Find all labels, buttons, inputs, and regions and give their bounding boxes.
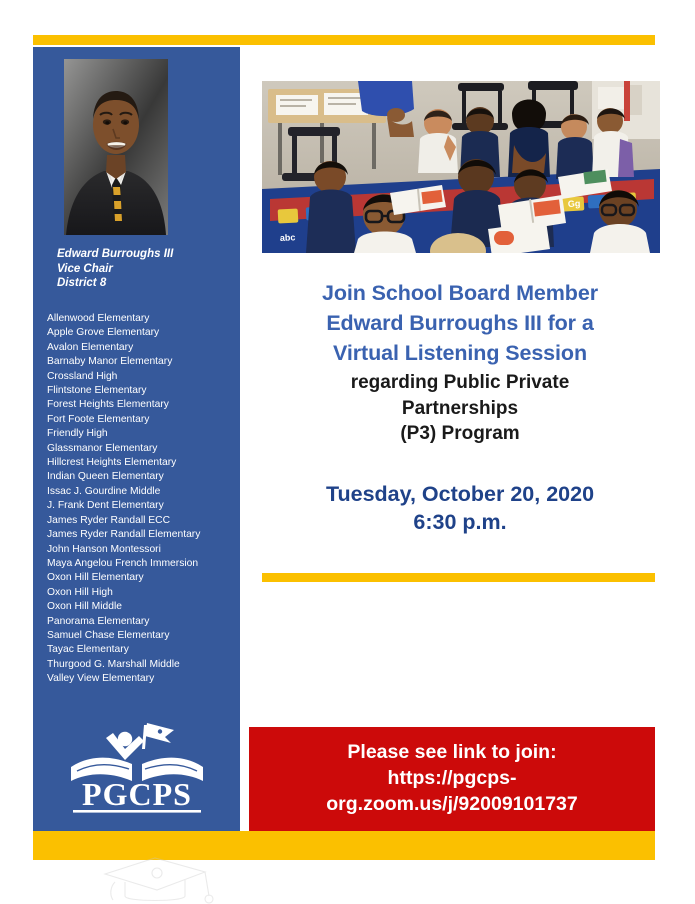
event-datetime: Tuesday, October 20, 2020 6:30 p.m.: [250, 480, 670, 536]
list-item: Samuel Chase Elementary: [47, 629, 232, 643]
list-item: Oxon Hill Middle: [47, 600, 232, 614]
svg-text:Gg: Gg: [568, 198, 581, 209]
pgcps-book-and-scholar-icon: PGCPS: [61, 719, 213, 815]
gold-divider: [262, 573, 655, 582]
list-item: Issac J. Gourdine Middle: [47, 485, 232, 499]
list-item: Fort Foote Elementary: [47, 413, 232, 427]
list-item: Maya Angelou French Immersion: [47, 557, 232, 571]
event-time: 6:30 p.m.: [250, 508, 670, 536]
subtitle: regarding Public Private Partnerships (P…: [250, 370, 670, 447]
classroom-photo: Gg 7 abc: [262, 81, 660, 253]
list-item: Barnaby Manor Elementary: [47, 355, 232, 369]
join-link-banner[interactable]: Please see link to join: https://pgcps- …: [249, 727, 655, 831]
headline-line-3: Virtual Listening Session: [250, 338, 670, 368]
subtitle-line-2: Partnerships: [250, 396, 670, 422]
school-list: Allenwood Elementary Apple Grove Element…: [33, 312, 240, 687]
list-item: Oxon Hill High: [47, 586, 232, 600]
list-item: Thurgood G. Marshall Middle: [47, 658, 232, 672]
svg-text:abc: abc: [280, 232, 296, 243]
blue-sidebar: Edward Burroughs III Vice Chair District…: [33, 47, 240, 831]
join-link-text: Please see link to join: https://pgcps- …: [249, 739, 655, 817]
person-district: District 8: [57, 276, 226, 291]
list-item: Indian Queen Elementary: [47, 470, 232, 484]
graduation-cap-outline: [85, 856, 235, 904]
headline-line-2: Edward Burroughs III for a: [250, 308, 670, 338]
join-link-label: Please see link to join:: [249, 739, 655, 765]
flyer-page: Edward Burroughs III Vice Chair District…: [0, 0, 695, 899]
subtitle-line-3: (P3) Program: [250, 421, 670, 447]
list-item: John Hanson Montessori: [47, 543, 232, 557]
svg-text:PGCPS: PGCPS: [82, 776, 192, 812]
join-link-url-line-1[interactable]: https://pgcps-: [249, 765, 655, 791]
subtitle-line-1: regarding Public Private: [250, 370, 670, 396]
list-item: J. Frank Dent Elementary: [47, 499, 232, 513]
classroom-illustration: Gg 7 abc: [262, 81, 660, 253]
list-item: Apple Grove Elementary: [47, 326, 232, 340]
list-item: Flintstone Elementary: [47, 384, 232, 398]
list-item: Valley View Elementary: [47, 672, 232, 686]
portrait-illustration: [64, 59, 168, 235]
page-title: Join School Board Member Edward Burrough…: [250, 278, 670, 368]
list-item: Panorama Elementary: [47, 615, 232, 629]
person-name: Edward Burroughs III: [57, 247, 226, 262]
person-info-block: Edward Burroughs III Vice Chair District…: [33, 247, 240, 291]
headline-line-1: Join School Board Member: [250, 278, 670, 308]
list-item: Avalon Elementary: [47, 341, 232, 355]
pgcps-logo: PGCPS: [61, 719, 213, 815]
graduation-cap-watermark-icon: [85, 856, 235, 904]
person-title: Vice Chair: [57, 262, 226, 277]
list-item: James Ryder Randall Elementary: [47, 528, 232, 542]
list-item: Glassmanor Elementary: [47, 442, 232, 456]
event-date: Tuesday, October 20, 2020: [250, 480, 670, 508]
list-item: Hillcrest Heights Elementary: [47, 456, 232, 470]
join-link-url-line-2[interactable]: org.zoom.us/j/92009101737: [249, 791, 655, 817]
list-item: Forest Heights Elementary: [47, 398, 232, 412]
list-item: James Ryder Randall ECC: [47, 514, 232, 528]
list-item: Tayac Elementary: [47, 643, 232, 657]
list-item: Friendly High: [47, 427, 232, 441]
list-item: Crossland High: [47, 370, 232, 384]
list-item: Oxon Hill Elementary: [47, 571, 232, 585]
top-gold-bar: [33, 35, 655, 45]
portrait-photo: [64, 59, 168, 235]
list-item: Allenwood Elementary: [47, 312, 232, 326]
